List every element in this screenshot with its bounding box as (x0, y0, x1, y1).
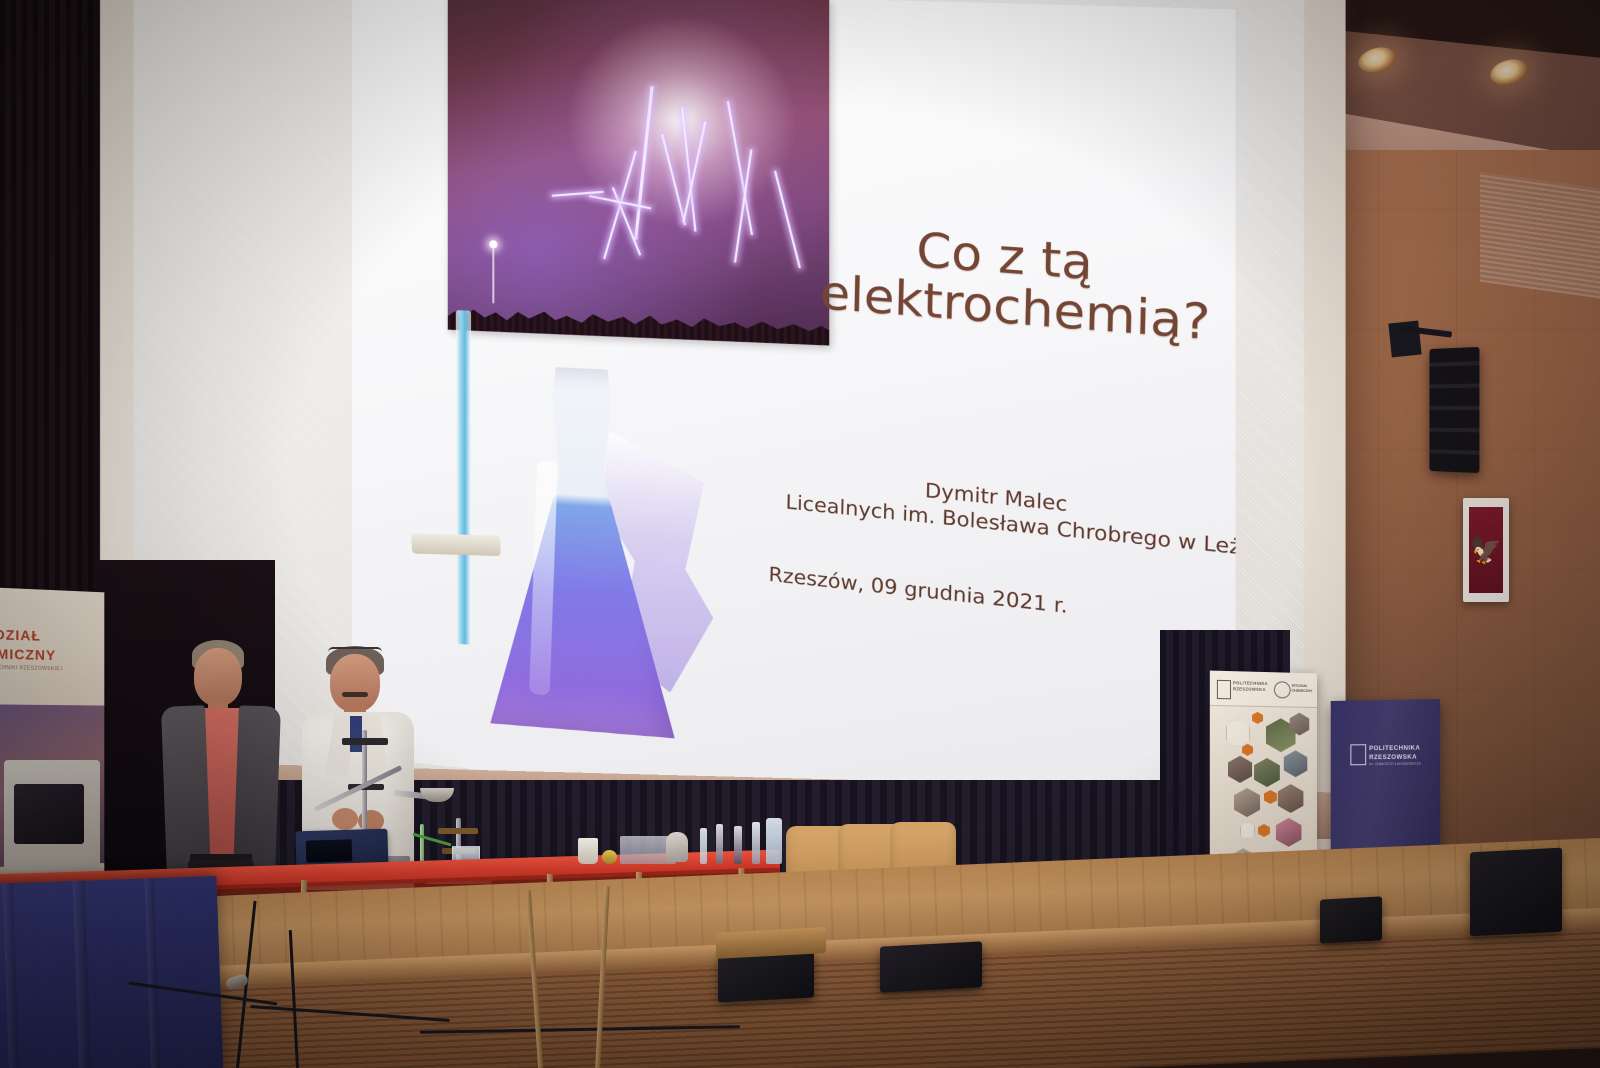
wall-vent-grille (1480, 172, 1600, 299)
presentation-slide: Co z tą elektrochemią? Dymitr Malec Lice… (352, 0, 1235, 851)
hand-left (332, 808, 358, 830)
university-logo-icon (1350, 744, 1366, 765)
test-tube (700, 828, 707, 864)
lecture-hall-photo: Co z tą elektrochemią? Dymitr Malec Lice… (0, 0, 1600, 1068)
test-tube (716, 824, 723, 864)
burette (456, 310, 471, 645)
faculty-seal-icon (1274, 681, 1291, 698)
blue-draped-table (0, 876, 223, 1068)
power-supply-display (306, 839, 353, 862)
polish-eagle-emblem: 🦅 (1463, 498, 1509, 602)
university-logo-icon (1217, 680, 1231, 699)
lightning-photo (448, 0, 829, 345)
tie (350, 716, 362, 752)
photo-pole (492, 246, 494, 303)
slide-title: Co z tą elektrochemią? (819, 219, 1194, 347)
stage-monitor-speaker (1320, 896, 1382, 943)
banner-left-line1: WYDZIAŁ (0, 625, 41, 643)
stand-clamp (438, 828, 478, 834)
banner-left-line2: CHEMICZNY (0, 645, 56, 664)
test-tube (752, 822, 760, 864)
stage-monitor-speaker (1470, 848, 1562, 937)
stand-clamp-top (342, 738, 388, 745)
test-tube (734, 826, 742, 864)
eagle-icon: 🦅 (1470, 537, 1502, 563)
paper-cup (578, 838, 598, 864)
water-bottle (766, 818, 782, 864)
burette-clamp (411, 533, 500, 556)
line-array-speaker-icon (1429, 347, 1479, 473)
banner-white-header: POLITECHNIKA RZESZOWSKA WYDZIAŁ CHEMICZN… (1210, 671, 1317, 708)
banner-left-org: POLITECHNIKI RZESZOWSKIEJ (0, 664, 63, 672)
blazer-left-panel (161, 705, 211, 878)
banner-navy-org-sub: im. IGNACEGO ŁUKASIEWICZA (1369, 762, 1421, 766)
stage-monitor-speaker (880, 941, 982, 992)
emblem-field: 🦅 (1469, 507, 1503, 593)
monitor-screen (14, 784, 84, 844)
banner-navy-org: POLITECHNIKA RZESZOWSKA (1369, 745, 1420, 764)
photo-pole-light (489, 240, 497, 248)
flask-photo (394, 302, 703, 760)
banner-white-faculty: WYDZIAŁ CHEMICZNY (1292, 684, 1313, 694)
cloth-bundle (666, 832, 688, 862)
moustache-icon (342, 692, 368, 697)
slide-author-block: Dymitr Malec Licealnych im. Bolesława Ch… (785, 466, 1214, 557)
slide-date: Rzeszów, 09 grudnia 2021 r. (768, 563, 1149, 627)
blazer-right-panel (233, 705, 281, 874)
banner-white-org: POLITECHNIKA RZESZOWSKA (1233, 680, 1268, 692)
yellow-object (602, 850, 617, 864)
